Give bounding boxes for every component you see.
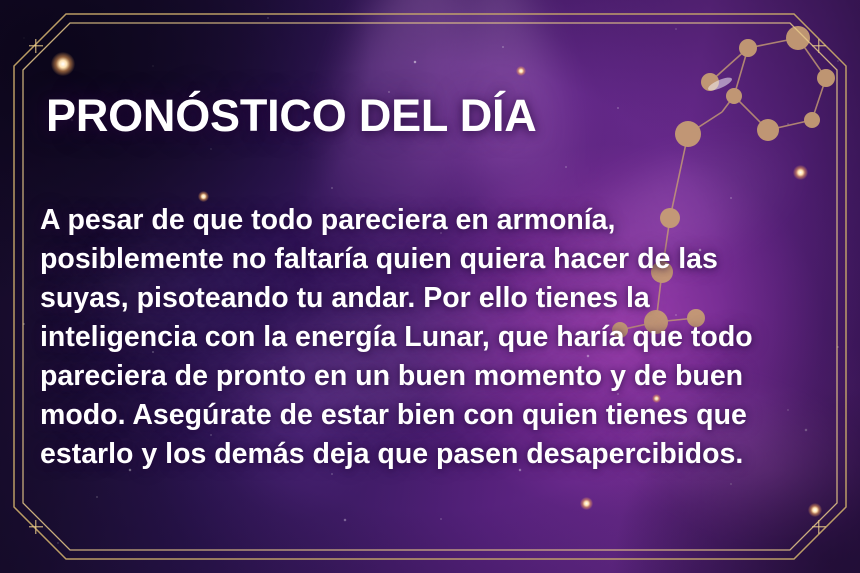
page-title: PRONÓSTICO DEL DÍA — [46, 90, 537, 142]
poster-content: PRONÓSTICO DEL DÍA A pesar de que todo p… — [0, 0, 860, 573]
forecast-body-text: A pesar de que todo pareciera en armonía… — [40, 201, 784, 474]
horoscope-poster: PRONÓSTICO DEL DÍA A pesar de que todo p… — [0, 0, 860, 573]
